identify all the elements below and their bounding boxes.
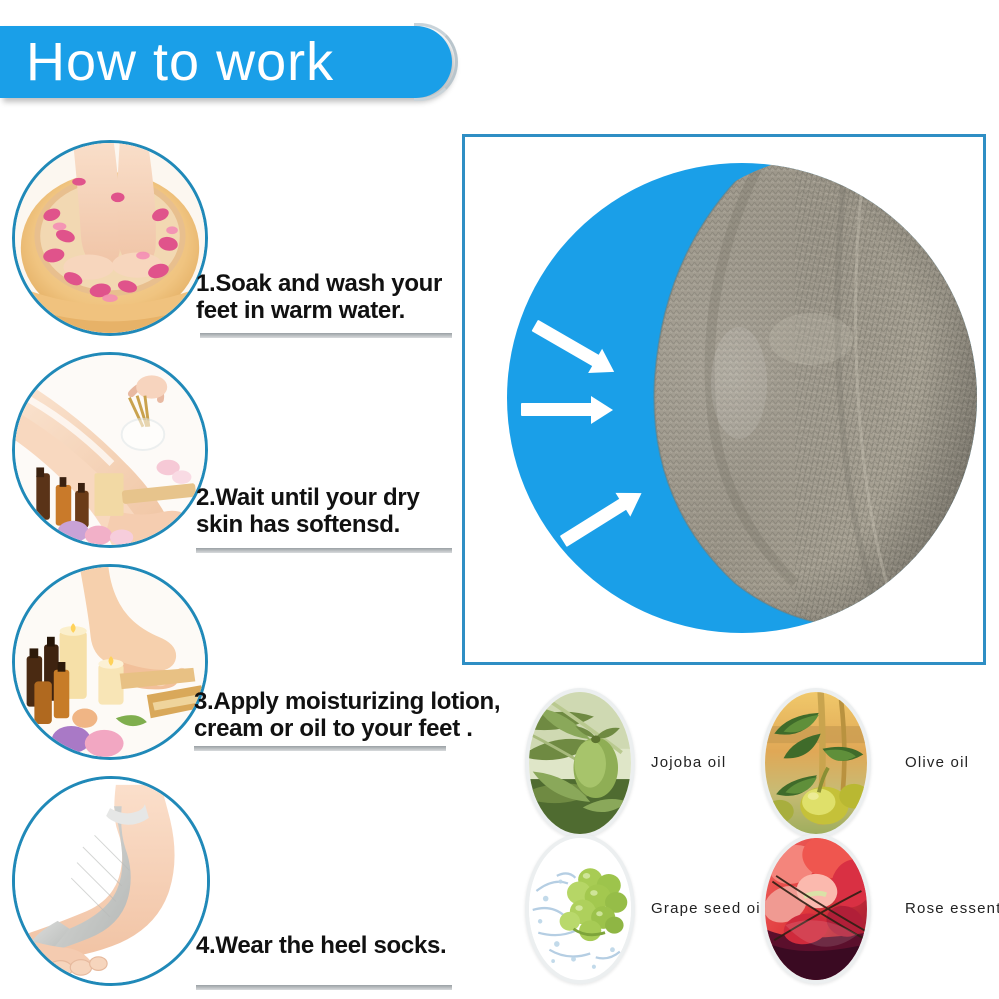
feet-soaking-tub-icon (15, 143, 205, 333)
sock-closeup-image (615, 163, 977, 633)
olive-photo (761, 688, 871, 838)
step-item: 1.Soak and wash your feet in warm water. (0, 136, 470, 351)
step-item: 4.Wear the heel socks. (0, 772, 470, 987)
olive-branch-icon (765, 692, 867, 834)
step-2-caption: 2.Wait until your dry skin has softensd. (196, 484, 466, 538)
arrow-top-right-icon (520, 299, 630, 397)
page-title: How to work (0, 35, 334, 89)
oil-label-grape: Grape seed oil (651, 900, 765, 917)
infographic-root: How to work (0, 0, 999, 999)
step-1-caption: 1.Soak and wash your feet in warm water. (196, 270, 466, 324)
step-3-photo (12, 564, 208, 760)
product-panel (462, 134, 986, 665)
step-3-underline (194, 746, 446, 751)
jojoba-photo (525, 688, 635, 838)
step-1-photo (12, 140, 208, 336)
steps-list: 1.Soak and wash your feet in warm water. (0, 136, 470, 996)
step-4-photo (12, 776, 210, 986)
banner-rounded-cap (414, 23, 458, 101)
knitted-sock-texture (615, 163, 977, 633)
legs-massage-roller-icon (15, 355, 205, 545)
oil-label-jojoba: Jojoba oil (651, 754, 726, 771)
step-4-caption: 4.Wear the heel socks. (196, 932, 496, 959)
step-3-caption: 3.Apply moisturizing lotion, cream or oi… (194, 688, 534, 742)
foot-with-heel-sock-icon (15, 779, 207, 983)
step-4-underline (196, 985, 452, 990)
arrow-middle-icon (521, 395, 621, 425)
oil-label-rose: Rose essential (905, 900, 999, 917)
step-item: 3.Apply moisturizing lotion, cream or oi… (0, 560, 470, 775)
oil-ingredients-group: Jojoba oil (505, 688, 999, 988)
oil-label-olive: Olive oil (905, 754, 969, 771)
grape-photo (525, 834, 635, 984)
product-blue-circle (507, 163, 977, 633)
step-item: 2.Wait until your dry skin has softensd. (0, 348, 470, 563)
foot-candles-oils-icon (15, 567, 205, 757)
step-2-photo (12, 352, 208, 548)
grapes-water-splash-icon (529, 838, 631, 980)
step-2-underline (196, 548, 452, 553)
page-title-banner: How to work (0, 26, 452, 98)
rose-essential-oil-icon (765, 838, 867, 980)
step-1-underline (200, 333, 452, 338)
jojoba-plant-icon (529, 692, 631, 834)
rose-photo (761, 834, 871, 984)
